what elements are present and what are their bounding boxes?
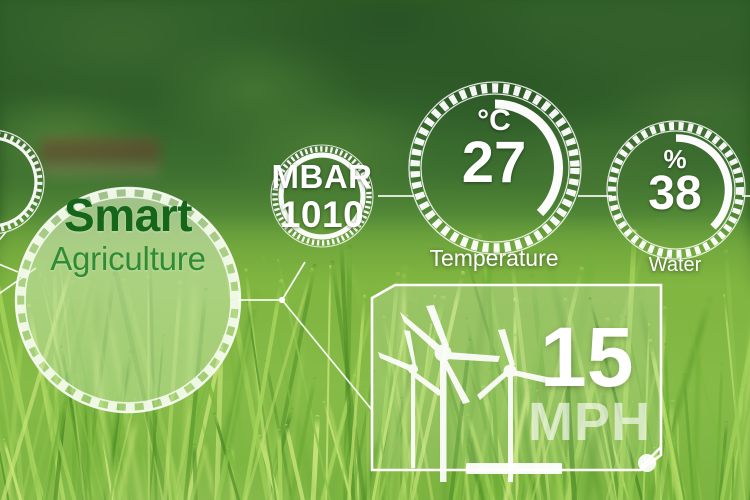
gauge-pressure[interactable] — [271, 145, 373, 247]
gauge-temperature-label: Temperature — [418, 245, 570, 272]
dashboard-scene: MBAR 1010 °C 27 Temperature % 38 Water S… — [0, 0, 750, 500]
temperature-progress-arc — [495, 104, 558, 213]
hud-overlay: MBAR 1010 °C 27 Temperature % 38 Water S… — [0, 0, 750, 500]
gauge-temperature[interactable] — [409, 82, 581, 254]
hud-vector-layer — [0, 0, 750, 500]
connector-nodes — [279, 297, 285, 303]
wind-panel-bottom-bar — [466, 463, 562, 474]
wind-panel-status-dot — [638, 454, 656, 472]
wind-panel[interactable] — [372, 285, 661, 482]
gauge-partial-left — [0, 130, 44, 234]
smart-agriculture-badge[interactable] — [16, 188, 240, 412]
gauge-water-label: Water — [612, 254, 738, 277]
gauge-water[interactable] — [607, 121, 745, 259]
